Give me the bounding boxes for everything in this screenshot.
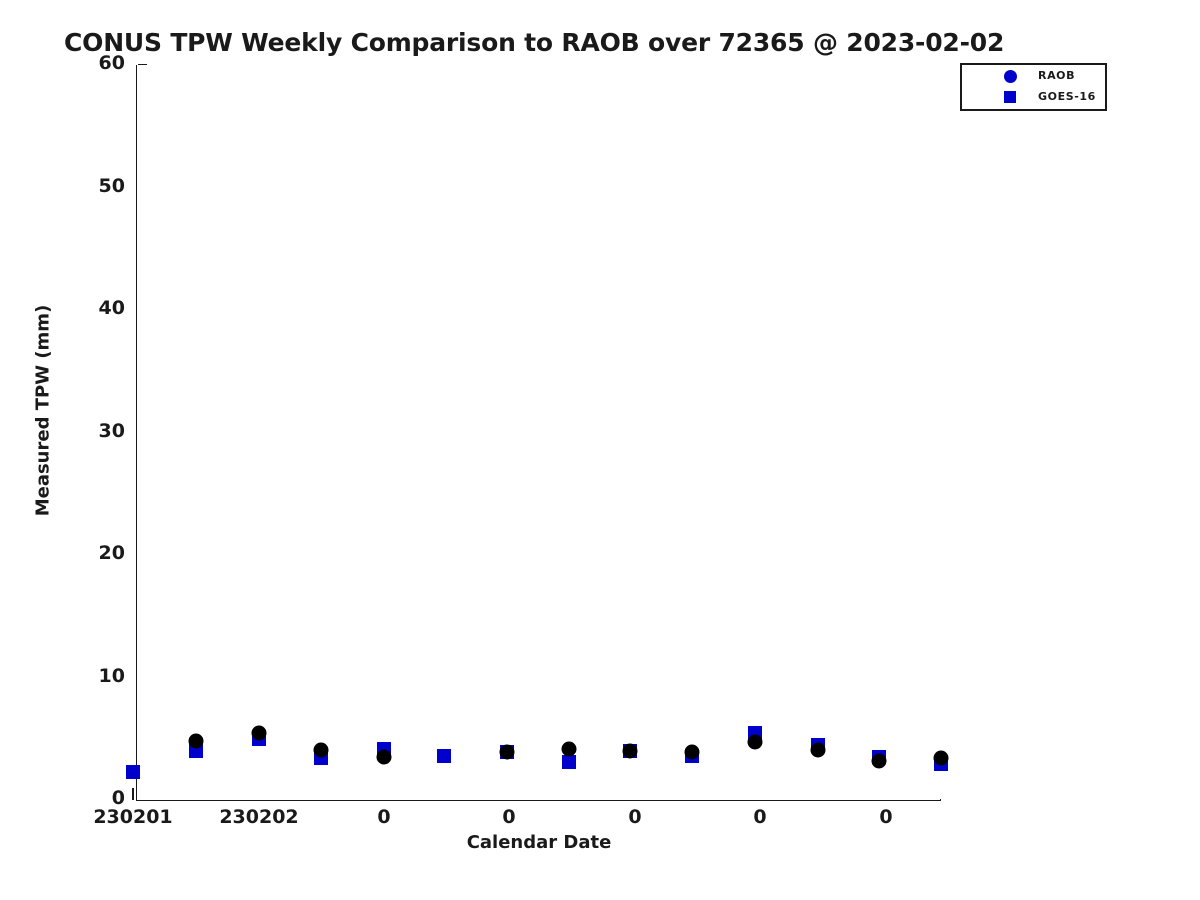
- x-tick-label: 0: [502, 806, 515, 828]
- data-point-raob: [314, 742, 329, 757]
- data-point-raob: [252, 725, 267, 740]
- data-point-goes-16: [126, 765, 140, 779]
- circle-marker-icon: [1004, 70, 1017, 83]
- legend-label: GOES-16: [1038, 90, 1096, 103]
- data-point-raob: [811, 742, 826, 757]
- legend-marker: [1000, 66, 1020, 87]
- x-tick-label: 230201: [93, 806, 172, 828]
- y-tick-label: 10: [55, 665, 125, 687]
- y-tick-label: 60: [55, 52, 125, 74]
- data-point-raob: [377, 750, 392, 765]
- plot-area: [137, 65, 940, 800]
- y-axis-label: Measured TPW (mm): [33, 201, 54, 621]
- page-title: CONUS TPW Weekly Comparison to RAOB over…: [64, 28, 1004, 57]
- chart-legend: RAOBGOES-16: [960, 63, 1107, 111]
- data-point-raob: [562, 741, 577, 756]
- x-tick-label: 0: [628, 806, 641, 828]
- y-tick-label: 50: [55, 175, 125, 197]
- y-tick-label: 20: [55, 542, 125, 564]
- x-axis-label: Calendar Date: [0, 832, 1078, 853]
- x-tick-label: 0: [377, 806, 390, 828]
- legend-marker: [1000, 87, 1020, 108]
- y-tick-label: 40: [55, 297, 125, 319]
- chart-figure: CONUS TPW Weekly Comparison to RAOB over…: [0, 0, 1200, 900]
- x-tick-label: 0: [879, 806, 892, 828]
- x-tick-mark: [132, 788, 134, 800]
- data-point-raob: [872, 753, 887, 768]
- square-marker-icon: [1004, 91, 1016, 103]
- data-point-raob: [189, 734, 204, 749]
- legend-entry[interactable]: RAOB: [962, 66, 1105, 87]
- x-tick-label: 230202: [219, 806, 298, 828]
- legend-label: RAOB: [1038, 69, 1075, 82]
- data-point-raob: [623, 744, 638, 759]
- y-tick-label: 30: [55, 420, 125, 442]
- data-point-raob: [934, 751, 949, 766]
- data-point-raob: [748, 735, 763, 750]
- legend-entry[interactable]: GOES-16: [962, 87, 1105, 108]
- data-point-raob: [500, 745, 515, 760]
- data-point-raob: [685, 745, 700, 760]
- x-tick-label: 0: [753, 806, 766, 828]
- data-point-goes-16: [562, 755, 576, 769]
- data-point-goes-16: [437, 749, 451, 763]
